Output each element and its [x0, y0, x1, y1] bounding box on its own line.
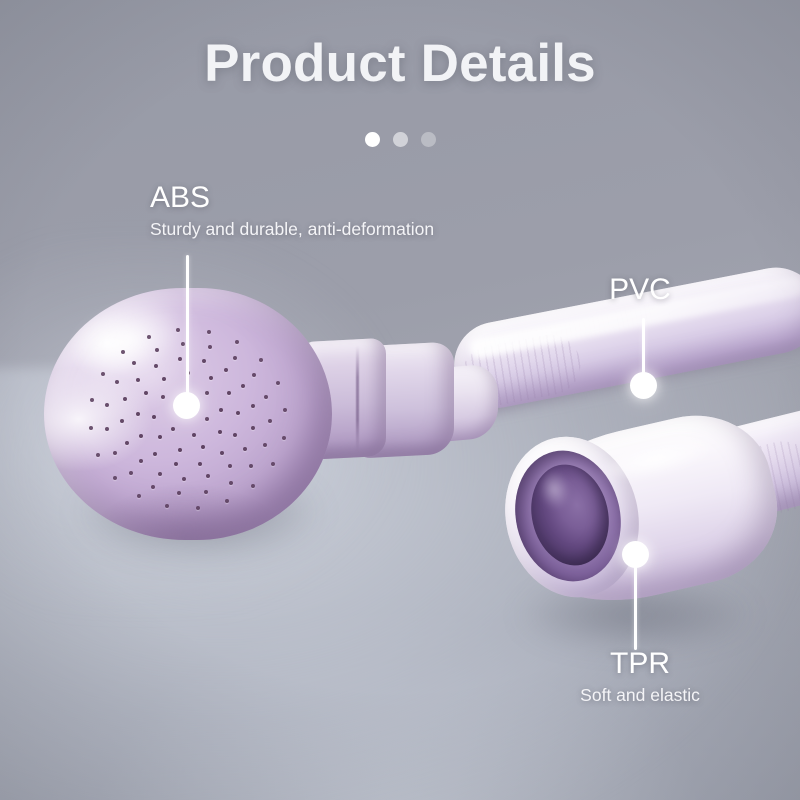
callout-abs: ABS Sturdy and durable, anti-deformation	[150, 182, 434, 240]
pagination-dot-3[interactable]	[421, 132, 436, 147]
page-title: Product Details	[0, 33, 800, 94]
callout-tpr-label: TPR	[540, 648, 740, 680]
pagination-dot-1[interactable]	[365, 132, 380, 147]
pagination-dots[interactable]	[0, 132, 800, 147]
callout-pvc: PVC	[540, 274, 740, 306]
callout-tpr-leader-line	[634, 566, 637, 650]
callout-abs-label: ABS	[150, 182, 434, 214]
callout-tpr-description: Soft and elastic	[540, 684, 740, 707]
callout-abs-description: Sturdy and durable, anti-deformation	[150, 218, 434, 241]
callout-tpr: TPR Soft and elastic	[540, 648, 740, 706]
callout-tpr-marker	[622, 541, 649, 568]
callout-pvc-marker	[630, 372, 657, 399]
callout-abs-leader-line	[186, 255, 189, 407]
pagination-dot-2[interactable]	[393, 132, 408, 147]
callout-pvc-label: PVC	[540, 274, 740, 306]
callout-abs-marker	[173, 392, 200, 419]
product-details-image: Product Details ABS Sturdy and durable, …	[0, 0, 800, 800]
